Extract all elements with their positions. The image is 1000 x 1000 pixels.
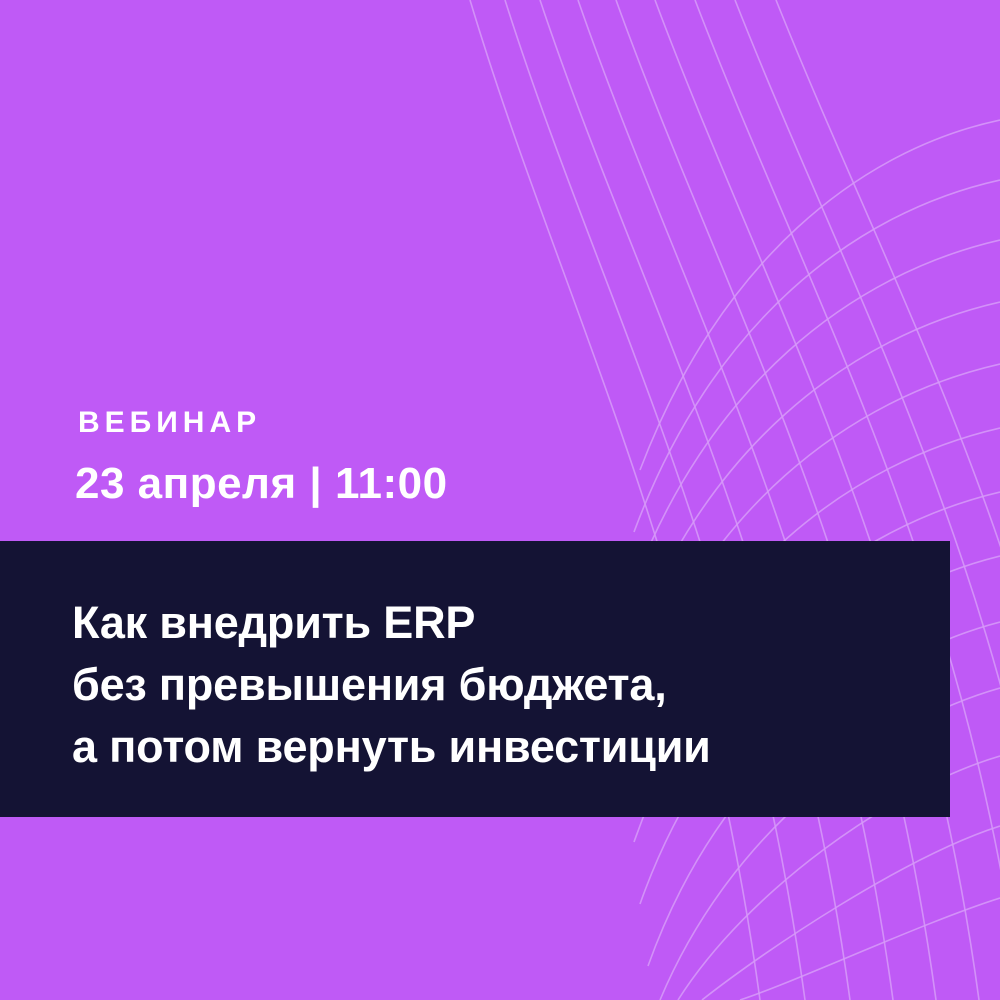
headline-line-3: а потом вернуть инвестиции (72, 716, 932, 778)
event-datetime: 23 апреля | 11:00 (75, 460, 448, 508)
headline-line-1: Как внедрить ERP (72, 592, 932, 654)
kicker-label: ВЕБИНАР (78, 408, 261, 438)
webinar-poster: ВЕБИНАР 23 апреля | 11:00 Как внедрить E… (0, 0, 1000, 1000)
headline: Как внедрить ERP без превышения бюджета,… (72, 592, 932, 778)
headline-line-2: без превышения бюджета, (72, 654, 932, 716)
